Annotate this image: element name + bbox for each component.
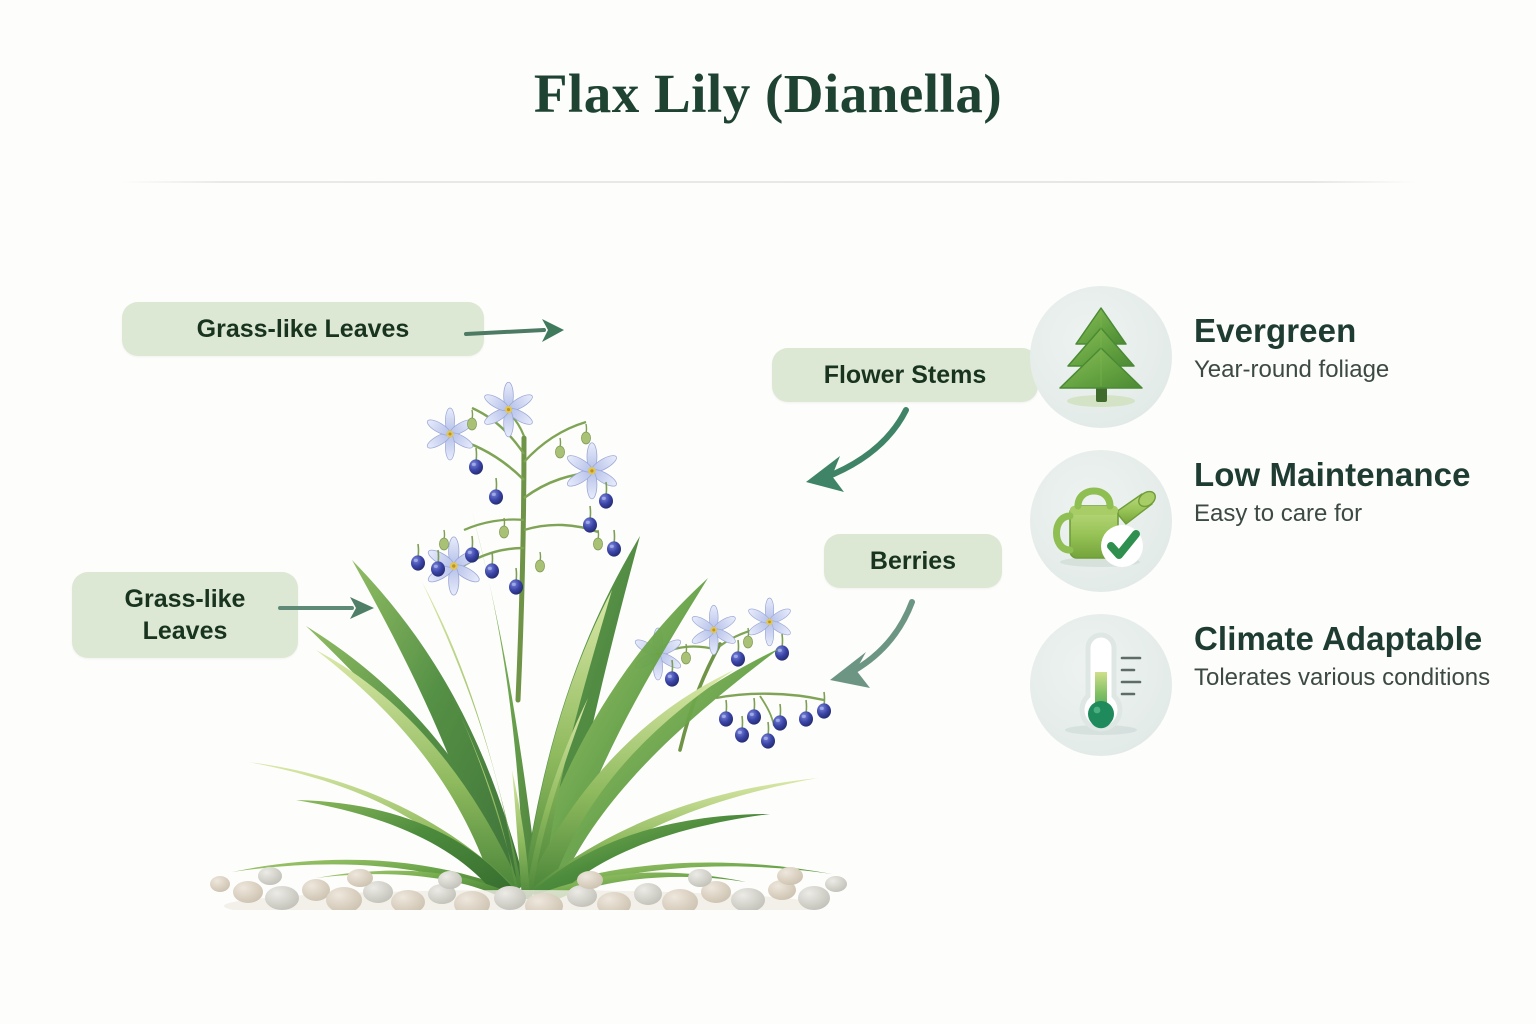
feature-item-evergreen[interactable]: Evergreen Year-round foliage	[1030, 286, 1500, 428]
evergreen-tree-icon	[1030, 286, 1172, 428]
watering-can-check-icon	[1030, 450, 1172, 592]
callout-grass-like-leaves-top[interactable]: Grass-like Leaves	[122, 302, 484, 356]
callout-grass-like-leaves-left[interactable]: Grass-like Leaves	[72, 572, 298, 658]
feature-item-climate-adaptable[interactable]: Climate Adaptable Tolerates various cond…	[1030, 614, 1500, 756]
callout-flower-stems[interactable]: Flower Stems	[772, 348, 1038, 402]
feature-title: Climate Adaptable	[1194, 620, 1490, 658]
feature-title: Evergreen	[1194, 312, 1389, 350]
feature-item-low-maintenance[interactable]: Low Maintenance Easy to care for	[1030, 450, 1500, 592]
infographic-canvas: Flax Lily (Dianella)	[0, 0, 1536, 1024]
page-title: Flax Lily (Dianella)	[0, 62, 1536, 125]
feature-subtitle: Tolerates various conditions	[1194, 663, 1490, 693]
thermometer-icon	[1030, 614, 1172, 756]
title-divider	[120, 181, 1416, 183]
callout-berries[interactable]: Berries	[824, 534, 1002, 588]
feature-subtitle: Easy to care for	[1194, 499, 1471, 529]
feature-title: Low Maintenance	[1194, 456, 1471, 494]
feature-list: Evergreen Year-round foliage	[1030, 286, 1500, 778]
berry-cluster	[716, 692, 831, 749]
feature-subtitle: Year-round foliage	[1194, 355, 1389, 385]
